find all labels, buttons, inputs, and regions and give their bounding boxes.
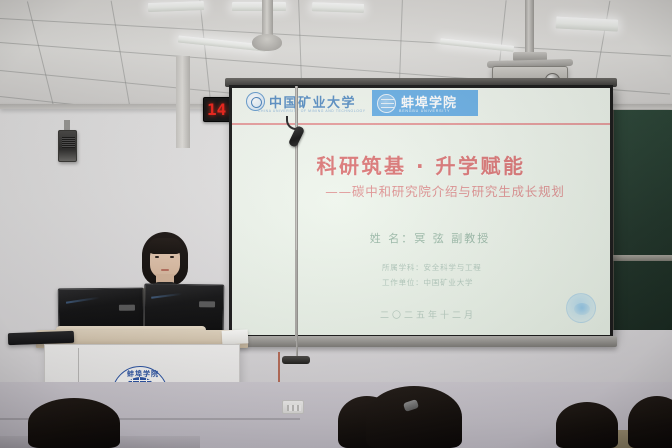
- screen-bottom-casing: [225, 336, 617, 347]
- slide-meta-discipline: 所属学科：安全科学与工程: [382, 260, 482, 275]
- wall-mounted-speaker-icon: [58, 130, 77, 162]
- microphone-base: [282, 356, 310, 364]
- slide-date: 二〇二五年十二月: [232, 308, 610, 321]
- laptop-on-desk: [8, 331, 74, 345]
- bengbu-logo-cn: 蚌埠学院: [401, 97, 457, 110]
- bengbu-logo: 蚌埠学院 BENGBU UNIVERSITY: [372, 90, 478, 116]
- audience-head: [628, 396, 672, 448]
- audience-head: [366, 386, 462, 448]
- slide-meta-block: 所属学科：安全科学与工程 工作单位：中国矿业大学: [382, 260, 482, 290]
- presenter-eye-left: [155, 256, 159, 258]
- ceiling-pipe: [262, 0, 273, 38]
- ceiling-pipe-head: [252, 34, 282, 51]
- slide-watermark-icon: [566, 293, 596, 323]
- presenter-eye-right: [170, 256, 174, 258]
- audience-head: [28, 398, 120, 448]
- ceiling-light-3: [312, 2, 364, 13]
- monitor-label-left: [119, 305, 135, 311]
- presenter-mouth: [161, 269, 169, 271]
- bengbu-emblem-icon: [377, 94, 396, 113]
- slide-subtitle: ——碳中和研究院介绍与研究生成长规划: [232, 181, 610, 200]
- projector-mount-pole: [525, 0, 534, 56]
- chalkboard-rail: [612, 255, 672, 261]
- microphone-lower-rod: [296, 250, 298, 360]
- wall-outlet-icon: [282, 400, 304, 414]
- slide-meta-affiliation: 工作单位：中国矿业大学: [382, 275, 482, 290]
- presenter-fringe: [148, 238, 182, 254]
- slide-title: 科研筑基 · 升学赋能: [232, 150, 610, 179]
- slide-presenter-name: 姓 名：冥 弦 副教授: [232, 230, 610, 246]
- wall-pillar: [176, 56, 190, 148]
- monitor-label-right: [199, 301, 215, 307]
- chalkboard: [612, 110, 672, 330]
- bengbu-logo-en: BENGBU UNIVERSITY: [399, 109, 450, 113]
- monitor-glint-right: [151, 293, 182, 299]
- paper-stack: [222, 329, 249, 344]
- audience-head: [556, 402, 618, 448]
- cumt-logo-en: CHINA UNIVERSITY OF MINING AND TECHNOLOG…: [258, 109, 366, 113]
- lecture-hall-scene: 14: 中国矿业大学 CHINA UNIVERSITY OF MINING AN…: [0, 0, 672, 448]
- ceiling-light-2: [232, 2, 286, 11]
- monitor-glint-left: [66, 296, 100, 303]
- podium-logo-cn: 蚌埠学院: [127, 369, 159, 379]
